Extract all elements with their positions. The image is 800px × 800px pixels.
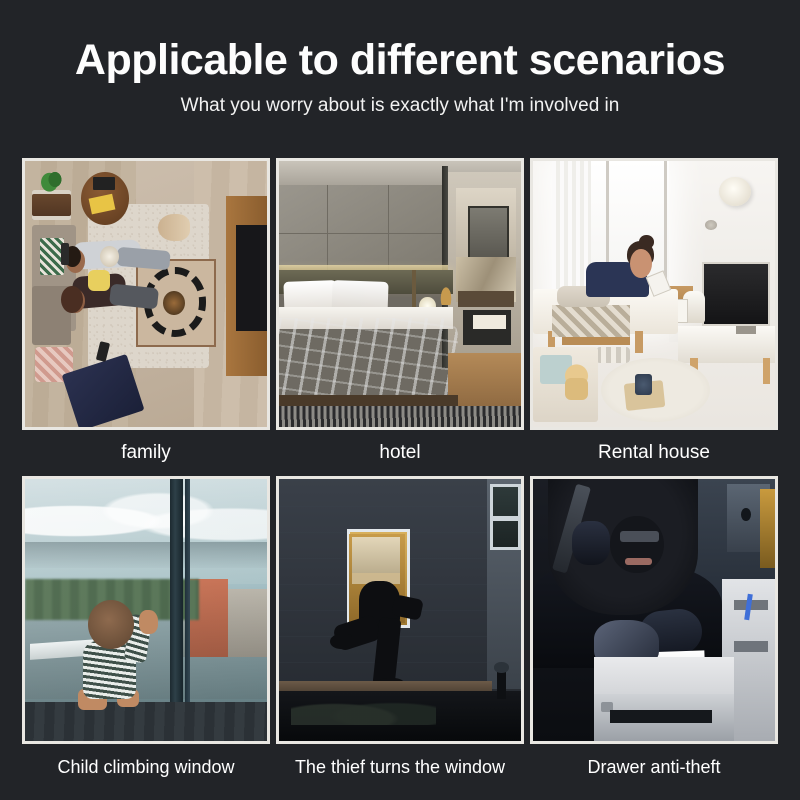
scenario-caption-family: family xyxy=(22,430,270,476)
hotel-room-illustration xyxy=(279,161,521,427)
family-living-room-illustration xyxy=(25,161,267,427)
drawer-burglar-illustration xyxy=(533,479,775,741)
rental-room-illustration xyxy=(533,161,775,427)
scenario-card-hotel[interactable]: hotel xyxy=(276,158,524,476)
scenario-card-child-climbing-window[interactable]: Child climbing window xyxy=(22,476,270,790)
scenario-card-rental-house[interactable]: Rental house xyxy=(530,158,778,476)
page-subtitle: What you worry about is exactly what I'm… xyxy=(0,95,800,117)
page-title: Applicable to different scenarios xyxy=(0,38,800,83)
scenario-caption-hotel: hotel xyxy=(276,430,524,476)
scenario-caption-thief-turns-window: The thief turns the window xyxy=(276,744,524,790)
scenario-card-drawer-anti-theft[interactable]: Drawer anti-theft xyxy=(530,476,778,790)
scenario-grid: family xyxy=(22,158,778,790)
scenario-card-family[interactable]: family xyxy=(22,158,270,476)
scenario-caption-rental-house: Rental house xyxy=(530,430,778,476)
thief-at-window-illustration xyxy=(279,479,521,741)
scenario-card-thief-turns-window[interactable]: The thief turns the window xyxy=(276,476,524,790)
scenario-image-drawer-anti-theft xyxy=(530,476,778,744)
scenario-image-family xyxy=(22,158,270,430)
scenario-image-child-climbing-window xyxy=(22,476,270,744)
child-at-window-illustration xyxy=(25,479,267,741)
scenario-image-thief-turns-window xyxy=(276,476,524,744)
scenario-image-rental-house xyxy=(530,158,778,430)
page-header: Applicable to different scenarios What y… xyxy=(0,0,800,117)
scenarios-page: Applicable to different scenarios What y… xyxy=(0,0,800,800)
scenario-caption-drawer-anti-theft: Drawer anti-theft xyxy=(530,744,778,790)
scenario-image-hotel xyxy=(276,158,524,430)
scenario-caption-child-climbing-window: Child climbing window xyxy=(22,744,270,790)
